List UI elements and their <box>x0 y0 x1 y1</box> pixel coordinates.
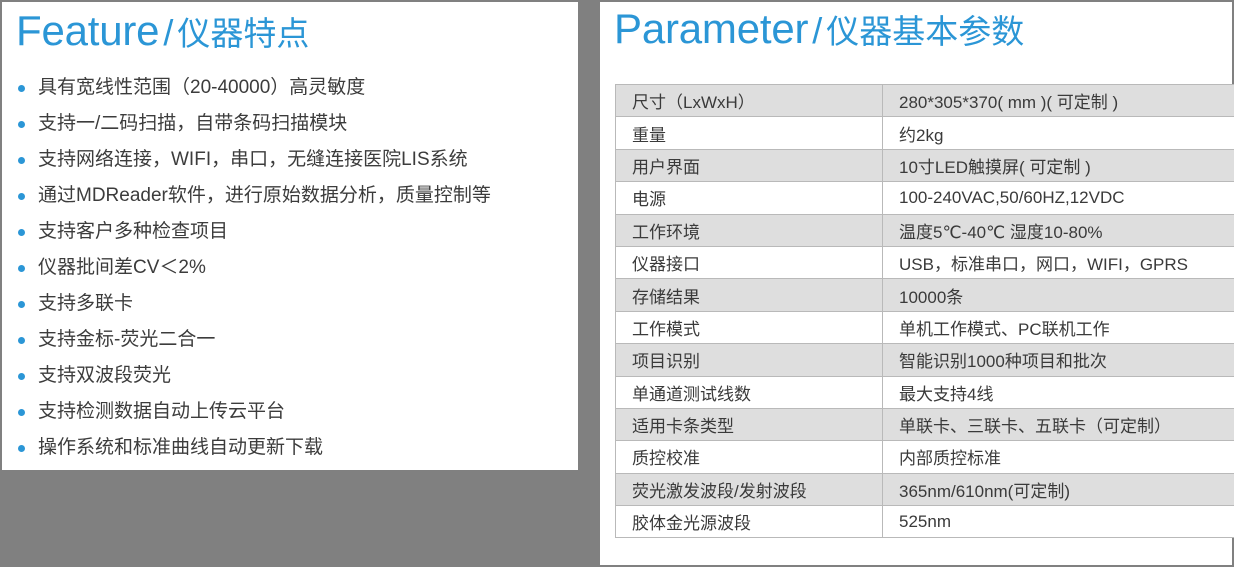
specification-value: 10000条 <box>883 279 1234 311</box>
parameter-title-separator: / <box>808 10 826 51</box>
feature-list-item-label: 具有宽线性范围（20-40000）高灵敏度 <box>38 77 365 98</box>
parameter-title-english: Parameter <box>614 5 808 52</box>
specification-key: 单通道测试线数 <box>616 376 883 408</box>
feature-title-chinese: 仪器特点 <box>177 15 309 52</box>
specification-key: 尺寸（LxWxH） <box>616 85 883 117</box>
specification-value: 单机工作模式、PC联机工作 <box>883 311 1234 343</box>
feature-list-item: 支持网络连接，WIFI，串口，无缝连接医院LIS系统 <box>12 142 572 178</box>
feature-list-item-label: 支持多联卡 <box>38 293 133 314</box>
bullet-icon <box>18 445 25 452</box>
specification-row: 存储结果10000条 <box>616 279 1234 311</box>
bullet-icon <box>18 229 25 236</box>
feature-list-item: 支持一/二码扫描，自带条码扫描模块 <box>12 106 572 142</box>
feature-list-item: 通过MDReader软件，进行原始数据分析，质量控制等 <box>12 178 572 214</box>
specification-key: 荧光激发波段/发射波段 <box>616 473 883 505</box>
specification-table: 尺寸（LxWxH）280*305*370( mm )( 可定制 )重量约2kg用… <box>615 84 1234 538</box>
specification-key: 工作环境 <box>616 214 883 246</box>
bullet-icon <box>18 193 25 200</box>
bullet-icon <box>18 157 25 164</box>
specification-value: 100-240VAC,50/60HZ,12VDC <box>883 182 1234 214</box>
bullet-icon <box>18 409 25 416</box>
specification-key: 工作模式 <box>616 311 883 343</box>
feature-list-item-label: 支持金标-荧光二合一 <box>38 329 215 350</box>
bullet-icon <box>18 265 25 272</box>
feature-list-item: 支持多联卡 <box>12 286 572 322</box>
parameter-panel-title: Parameter/仪器基本参数 <box>614 8 1024 50</box>
specification-row: 单通道测试线数最大支持4线 <box>616 376 1234 408</box>
feature-list-item-label: 支持双波段荧光 <box>38 365 171 386</box>
bullet-icon <box>18 301 25 308</box>
specification-row: 尺寸（LxWxH）280*305*370( mm )( 可定制 ) <box>616 85 1234 117</box>
specification-row: 适用卡条类型单联卡、三联卡、五联卡（可定制） <box>616 408 1234 440</box>
specification-key: 用户界面 <box>616 149 883 181</box>
bullet-icon <box>18 373 25 380</box>
feature-list-item: 支持双波段荧光 <box>12 358 572 394</box>
slide-canvas: Feature/仪器特点 具有宽线性范围（20-40000）高灵敏度支持一/二码… <box>0 0 1234 567</box>
feature-list-item: 具有宽线性范围（20-40000）高灵敏度 <box>12 70 572 106</box>
specification-value: 约2kg <box>883 117 1234 149</box>
specification-key: 项目识别 <box>616 344 883 376</box>
bullet-icon <box>18 85 25 92</box>
specification-key: 存储结果 <box>616 279 883 311</box>
feature-list-item-label: 支持网络连接，WIFI，串口，无缝连接医院LIS系统 <box>38 149 468 170</box>
specification-table-body: 尺寸（LxWxH）280*305*370( mm )( 可定制 )重量约2kg用… <box>616 85 1234 538</box>
specification-value: 280*305*370( mm )( 可定制 ) <box>883 85 1234 117</box>
specification-row: 用户界面10寸LED触摸屏( 可定制 ) <box>616 149 1234 181</box>
specification-row: 项目识别智能识别1000种项目和批次 <box>616 344 1234 376</box>
feature-list: 具有宽线性范围（20-40000）高灵敏度支持一/二码扫描，自带条码扫描模块支持… <box>12 70 572 466</box>
parameter-panel: Parameter/仪器基本参数 尺寸（LxWxH）280*305*370( m… <box>600 2 1232 565</box>
feature-list-item-label: 支持检测数据自动上传云平台 <box>38 401 285 422</box>
feature-panel: Feature/仪器特点 具有宽线性范围（20-40000）高灵敏度支持一/二码… <box>2 2 578 470</box>
bullet-icon <box>18 337 25 344</box>
feature-list-item: 仪器批间差CV＜2% <box>12 250 572 286</box>
specification-key: 胶体金光源波段 <box>616 506 883 538</box>
feature-list-item-label: 支持一/二码扫描，自带条码扫描模块 <box>38 113 347 134</box>
feature-list-item-label: 仪器批间差CV＜2% <box>38 257 206 278</box>
feature-list-item: 操作系统和标准曲线自动更新下载 <box>12 430 572 466</box>
specification-key: 重量 <box>616 117 883 149</box>
feature-title-english: Feature <box>16 7 159 54</box>
feature-list-item-label: 操作系统和标准曲线自动更新下载 <box>38 437 323 458</box>
specification-value: USB，标准串口，网口，WIFI，GPRS <box>883 246 1234 278</box>
feature-list-item: 支持客户多种检查项目 <box>12 214 572 250</box>
specification-row: 电源100-240VAC,50/60HZ,12VDC <box>616 182 1234 214</box>
feature-list-item: 支持检测数据自动上传云平台 <box>12 394 572 430</box>
specification-value: 最大支持4线 <box>883 376 1234 408</box>
specification-key: 适用卡条类型 <box>616 408 883 440</box>
feature-list-item-label: 支持客户多种检查项目 <box>38 221 228 242</box>
specification-row: 胶体金光源波段525nm <box>616 506 1234 538</box>
specification-value: 单联卡、三联卡、五联卡（可定制） <box>883 408 1234 440</box>
specification-value: 365nm/610nm(可定制) <box>883 473 1234 505</box>
specification-row: 荧光激发波段/发射波段365nm/610nm(可定制) <box>616 473 1234 505</box>
specification-value: 10寸LED触摸屏( 可定制 ) <box>883 149 1234 181</box>
specification-row: 重量约2kg <box>616 117 1234 149</box>
specification-value: 智能识别1000种项目和批次 <box>883 344 1234 376</box>
specification-row: 工作环境温度5℃-40℃ 湿度10-80% <box>616 214 1234 246</box>
bullet-icon <box>18 121 25 128</box>
specification-value: 525nm <box>883 506 1234 538</box>
feature-list-item: 支持金标-荧光二合一 <box>12 322 572 358</box>
parameter-title-chinese: 仪器基本参数 <box>826 13 1024 50</box>
specification-value: 内部质控标准 <box>883 441 1234 473</box>
specification-row: 仪器接口USB，标准串口，网口，WIFI，GPRS <box>616 246 1234 278</box>
specification-key: 仪器接口 <box>616 246 883 278</box>
specification-row: 质控校准内部质控标准 <box>616 441 1234 473</box>
specification-key: 电源 <box>616 182 883 214</box>
specification-value: 温度5℃-40℃ 湿度10-80% <box>883 214 1234 246</box>
feature-list-item-label: 通过MDReader软件，进行原始数据分析，质量控制等 <box>38 185 491 206</box>
feature-panel-title: Feature/仪器特点 <box>16 10 309 52</box>
feature-title-separator: / <box>159 12 177 53</box>
specification-key: 质控校准 <box>616 441 883 473</box>
specification-row: 工作模式单机工作模式、PC联机工作 <box>616 311 1234 343</box>
